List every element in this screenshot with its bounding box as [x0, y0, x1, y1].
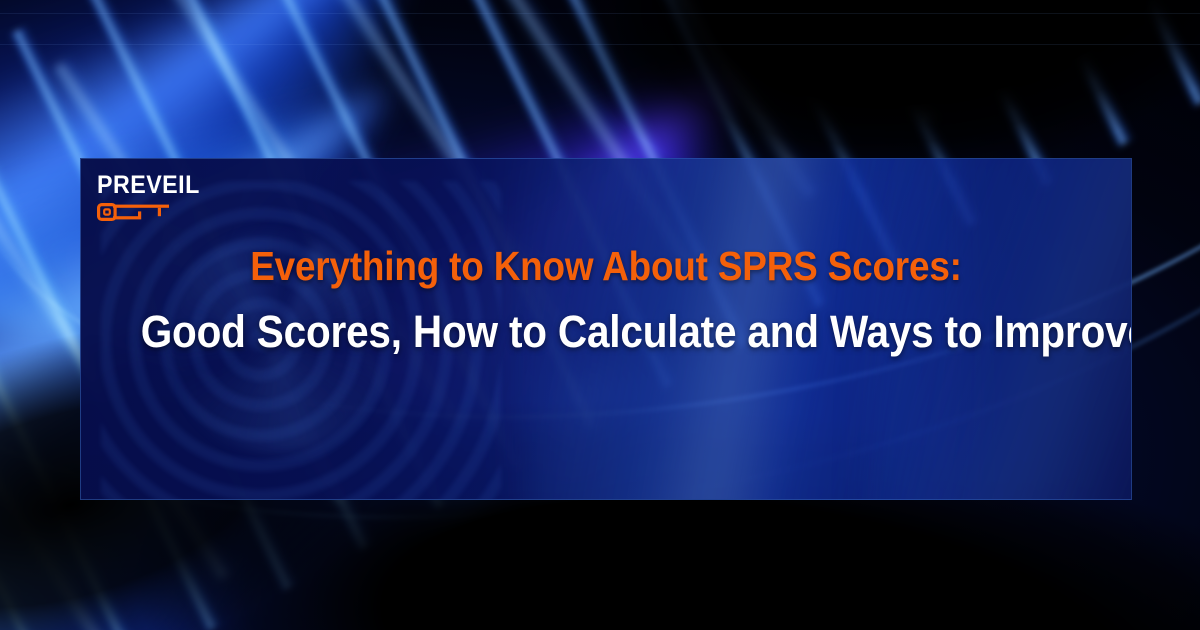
- background-seam-line-1: [0, 13, 1200, 14]
- headline-line-2: Good Scores, How to Calculate and Ways t…: [141, 308, 1072, 356]
- social-share-banner: PREVEIL Everything to Know About SPRS Sc…: [0, 0, 1200, 630]
- content-card: PREVEIL Everything to Know About SPRS Sc…: [80, 158, 1132, 500]
- key-icon: [97, 203, 169, 221]
- brand-logo-wordmark: PREVEIL: [97, 173, 223, 198]
- background-seam-line-2: [0, 44, 1200, 45]
- headline-line-1: Everything to Know About SPRS Scores:: [141, 245, 1072, 288]
- headline-block: Everything to Know About SPRS Scores: Go…: [81, 245, 1131, 356]
- brand-logo[interactable]: PREVEIL: [97, 173, 232, 221]
